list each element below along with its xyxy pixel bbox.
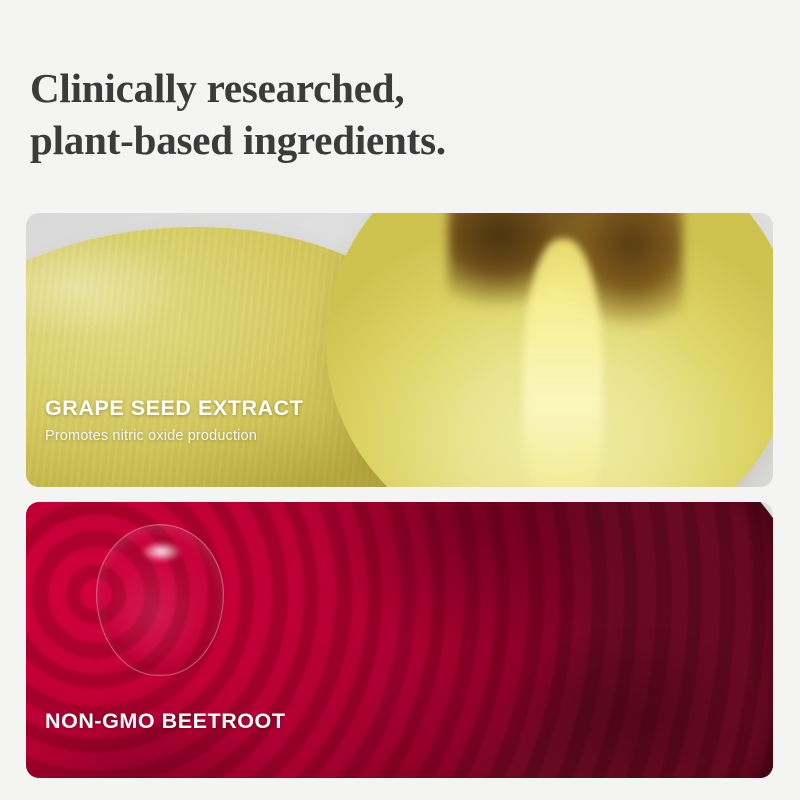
ingredient-title: NON-GMO BEETROOT <box>45 709 286 733</box>
ingredients-panel: Clinically researched, plant-based ingre… <box>0 0 800 800</box>
water-droplet-highlight <box>138 540 190 566</box>
halved-grape-shape <box>326 213 773 487</box>
ingredient-card-grape-seed-extract[interactable] <box>26 213 773 487</box>
page-title: Clinically researched, plant-based ingre… <box>30 62 750 166</box>
ingredient-label-non-gmo-beetroot: NON-GMO BEETROOT <box>45 709 286 733</box>
beetroot-rind-edge <box>756 502 773 778</box>
ingredient-subtitle: Promotes nitric oxide production <box>45 427 303 445</box>
grape-photo <box>26 213 773 487</box>
ingredient-label-grape-seed-extract: GRAPE SEED EXTRACT Promotes nitric oxide… <box>45 396 303 445</box>
ingredient-title: GRAPE SEED EXTRACT <box>45 396 303 420</box>
